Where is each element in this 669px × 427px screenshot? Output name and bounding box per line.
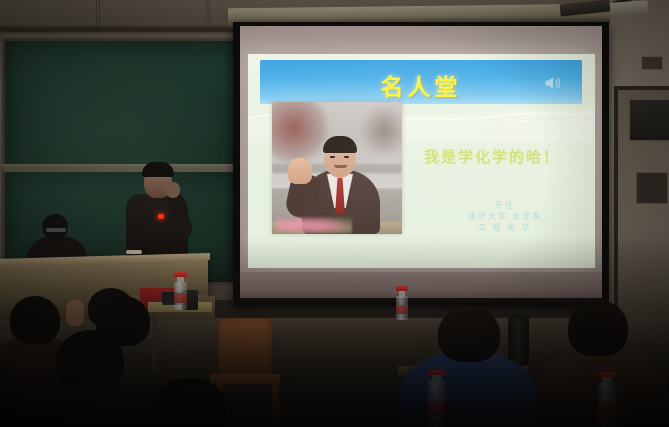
lecture-hall-screenshot: 名人堂 xyxy=(0,0,669,427)
foreground-shadow xyxy=(0,236,669,427)
slide-faint-line-2: 清华大学 化学系 xyxy=(430,211,580,222)
slide-faint-line-1: 历任 xyxy=(430,200,580,211)
speaker-icon[interactable] xyxy=(542,73,564,93)
presenter-hand xyxy=(166,182,180,198)
slide-faint-text: 历任 清华大学 化学系 工 程 化 学 xyxy=(430,200,580,233)
eyeglasses xyxy=(46,228,66,232)
slide-photo xyxy=(272,102,402,234)
wall-seam xyxy=(96,0,100,30)
door-window xyxy=(628,98,669,142)
slide-faint-line-3: 工 程 化 学 xyxy=(430,222,580,233)
microphone-led-icon xyxy=(158,214,164,219)
presenter-hair xyxy=(142,162,174,177)
wall-seam xyxy=(206,0,210,30)
wall-plaque xyxy=(641,56,663,70)
slide-headline: 我是学化学的哈！ xyxy=(424,146,592,167)
door-panel xyxy=(636,172,668,204)
